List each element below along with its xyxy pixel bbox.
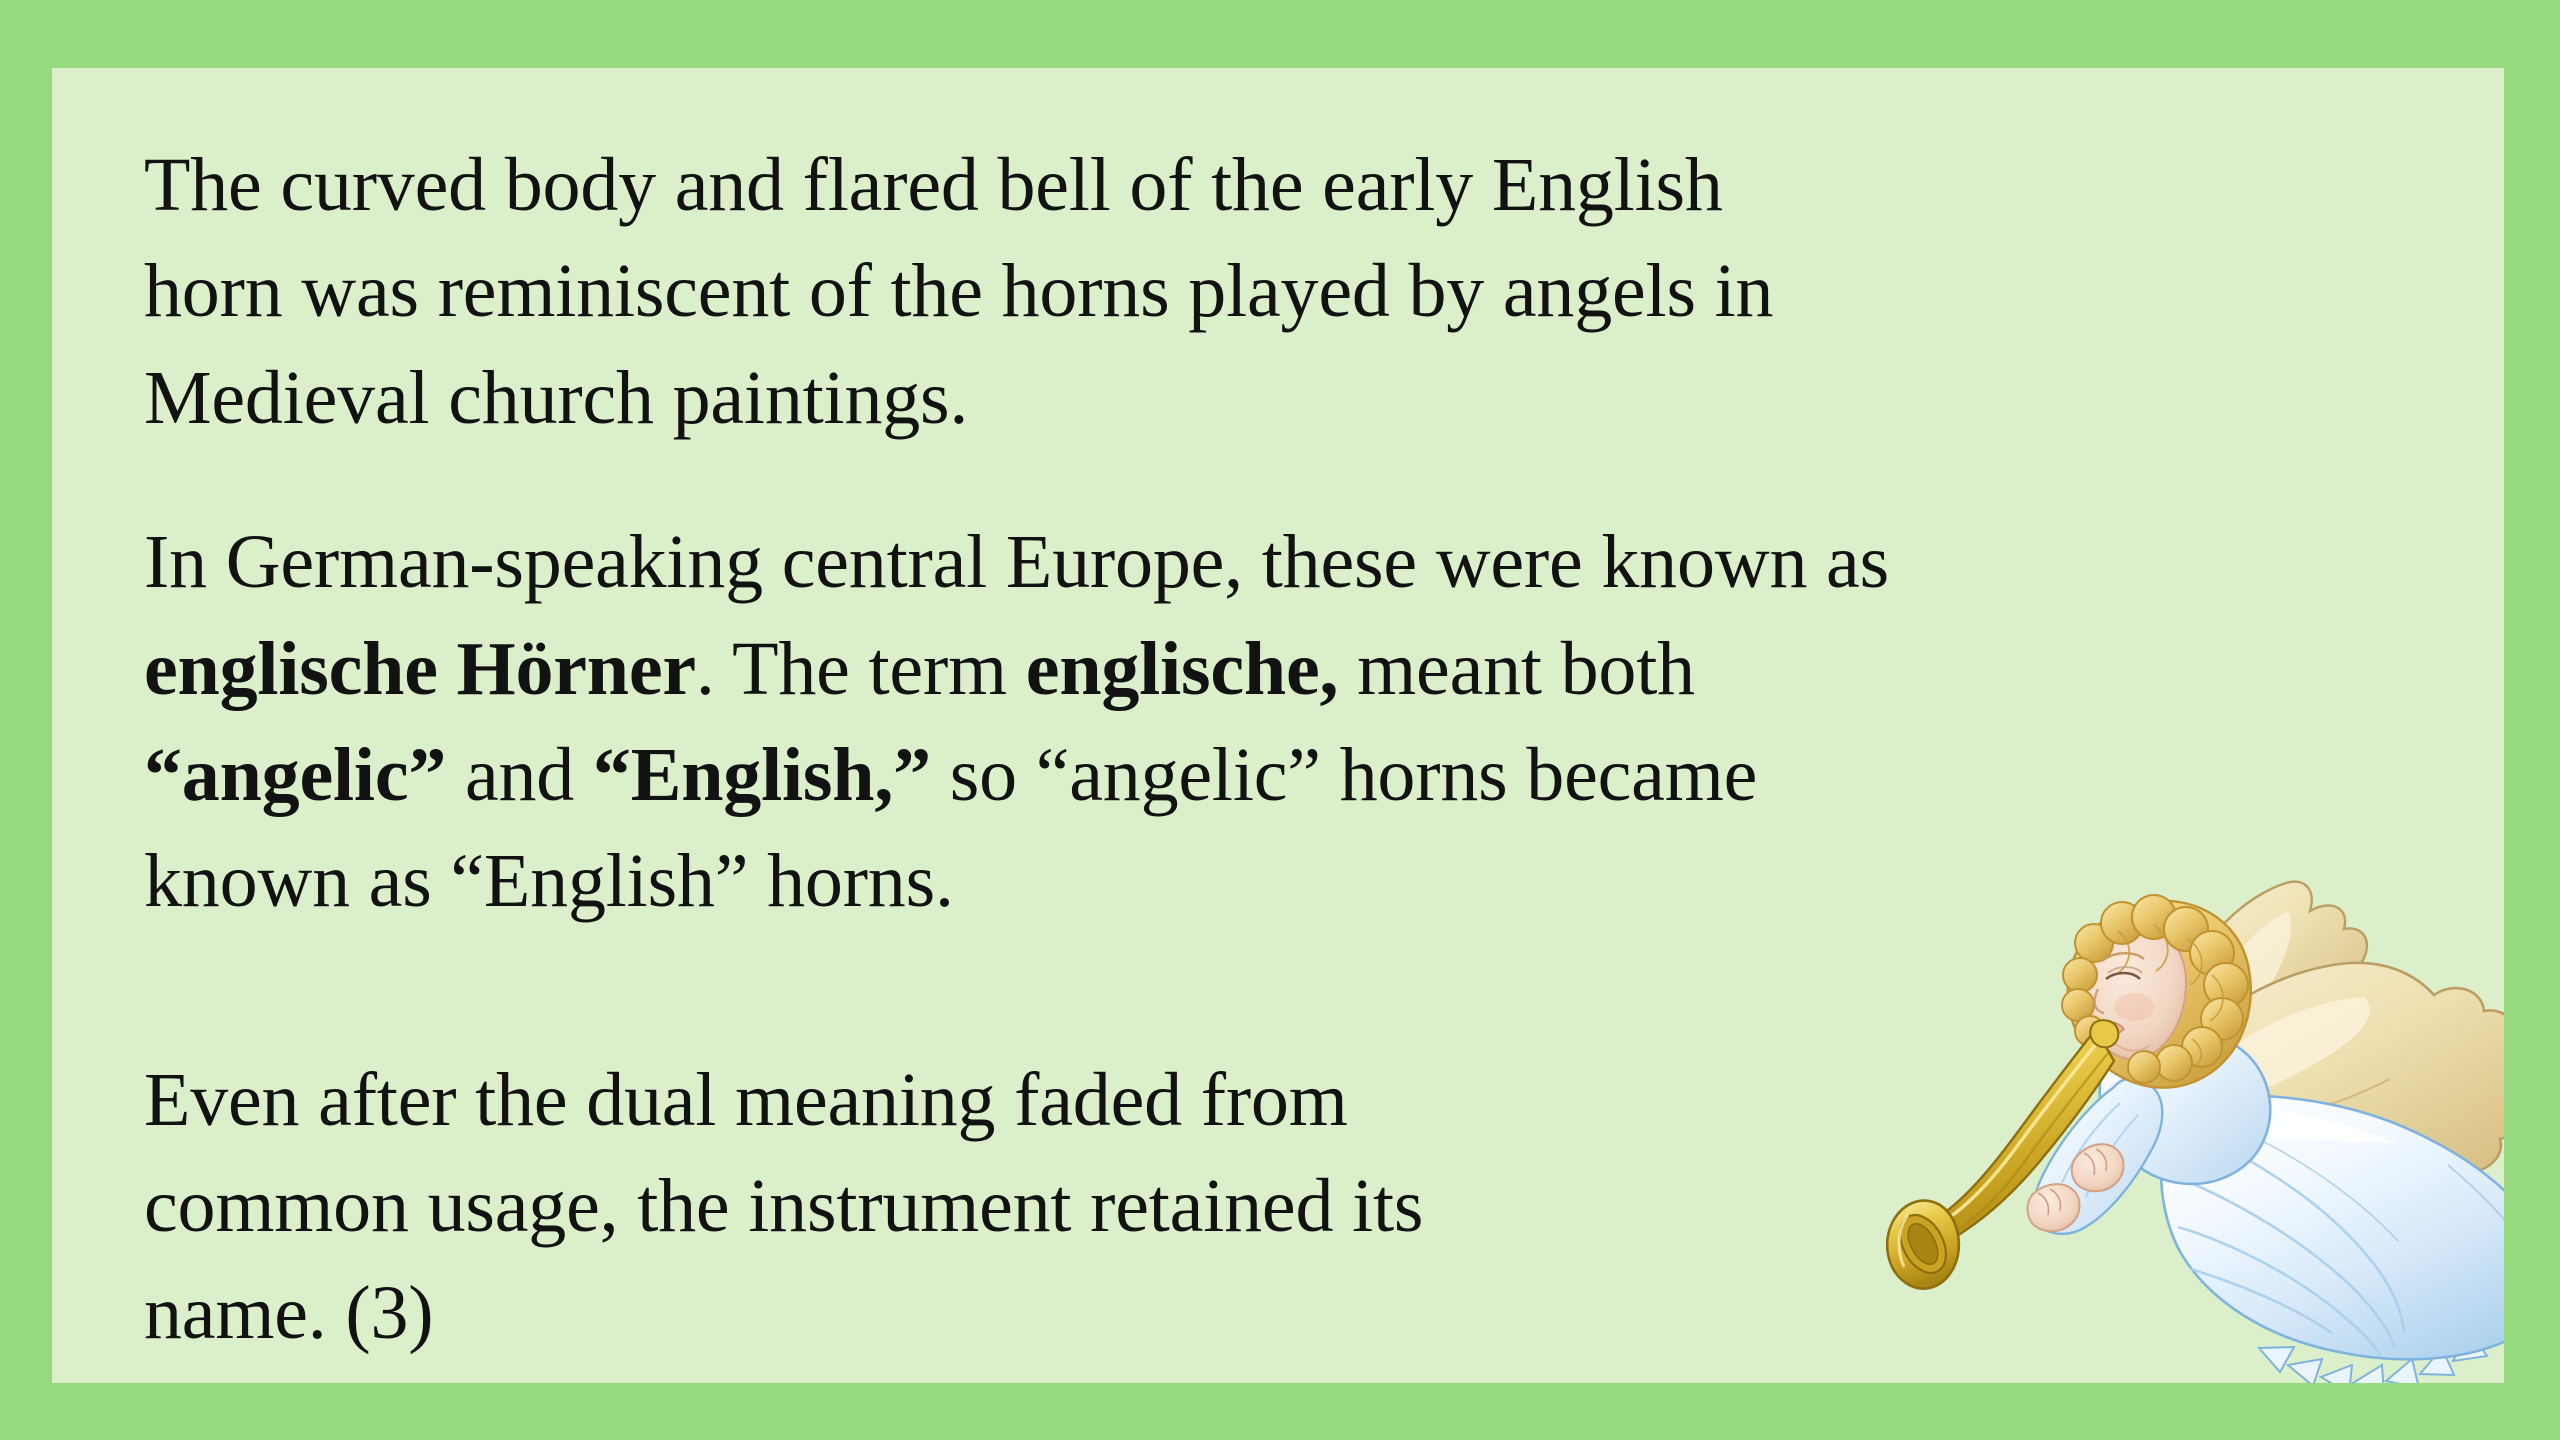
content-panel: The curved body and flared bell of the e… — [52, 68, 2504, 1383]
p2-bold-englische: englische, — [1026, 627, 1339, 711]
p2-segment-3: meant both — [1338, 627, 1695, 711]
paragraph-origin-of-shape: The curved body and flared bell of the e… — [144, 132, 1834, 451]
slide-canvas: The curved body and flared bell of the e… — [0, 0, 2560, 1440]
paragraph-german-terminology: In German-speaking central Europe, these… — [144, 509, 1954, 935]
paragraph-name-retained: Even after the dual meaning faded from c… — [144, 1047, 1564, 1366]
p2-segment-1: In German-speaking central Europe, these… — [144, 520, 1889, 604]
text-column: The curved body and flared bell of the e… — [144, 108, 2324, 1366]
p2-segment-4: and — [446, 733, 593, 817]
p2-bold-englische-hoerner: englische Hörner — [144, 627, 696, 711]
p2-segment-2: . The term — [696, 627, 1026, 711]
p2-bold-angelic: “angelic” — [144, 733, 446, 817]
p2-bold-english: “English,” — [593, 733, 931, 817]
